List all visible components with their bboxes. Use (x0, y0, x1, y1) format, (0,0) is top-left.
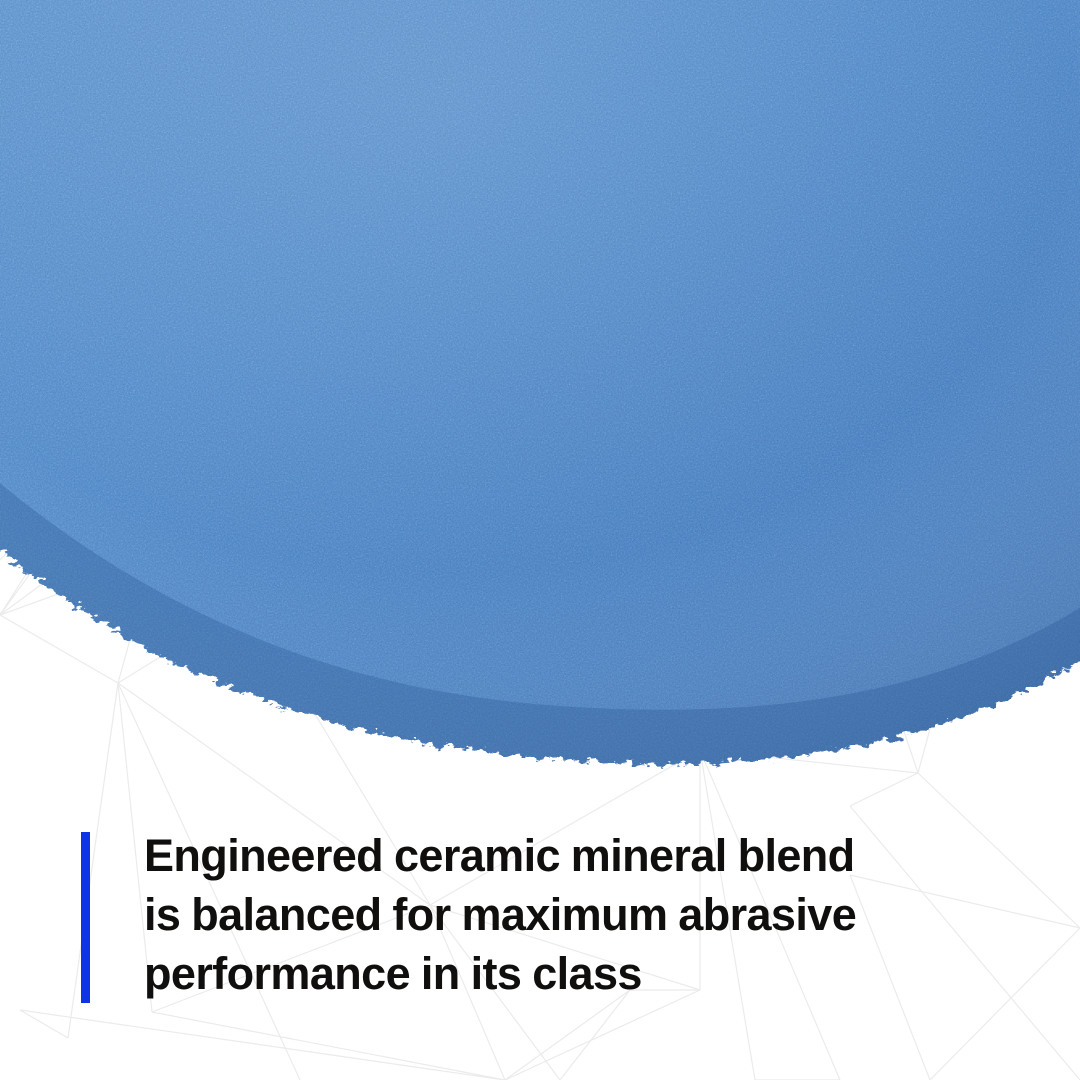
caption-line-1: Engineered ceramic mineral blend (144, 826, 1044, 885)
caption-line-2: is balanced for maximum abrasive (144, 885, 1044, 944)
accent-bar (81, 832, 90, 1003)
caption-line-3: performance in its class (144, 944, 1044, 1003)
caption-text: Engineered ceramic mineral blend is bala… (144, 826, 1044, 1003)
product-feature-card: Engineered ceramic mineral blend is bala… (0, 0, 1080, 1080)
caption-block: Engineered ceramic mineral blend is bala… (0, 826, 1080, 1026)
